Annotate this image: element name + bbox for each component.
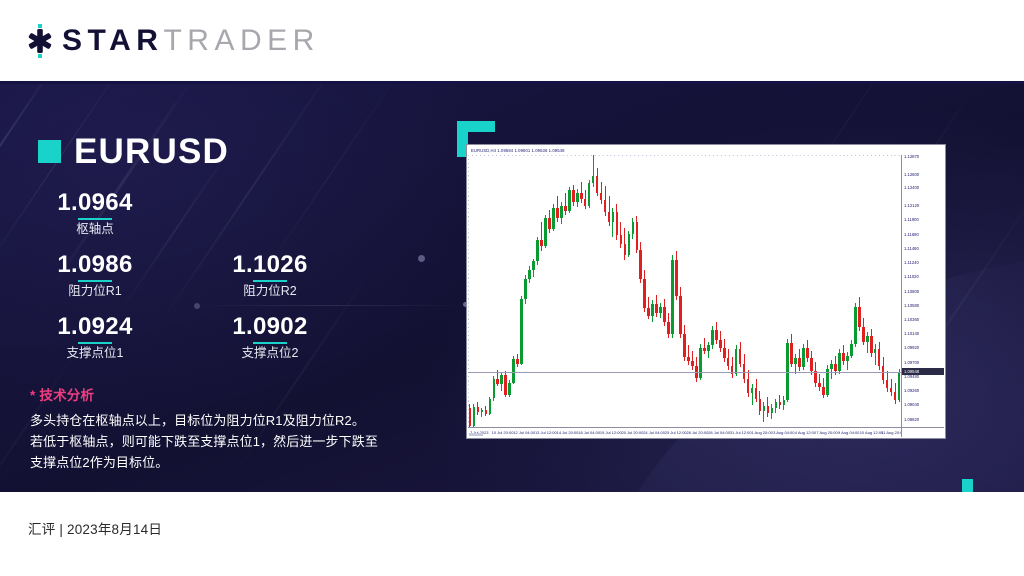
price-axis-tick: 1.09260 [904,388,919,393]
level-s1: 1.0924 支撑点位1 [0,313,190,361]
brand-wordmark: STAR TRADER [62,26,320,56]
candle-body [496,379,499,384]
pivot-row: 1.0964 枢轴点 [0,189,430,237]
time-axis-tick: 28 Jul 04:00 [708,430,730,435]
main-dark-panel: EURUSD 1.0964 枢轴点 1.0986 阻力位R1 [0,84,1024,492]
candle-body [504,375,507,395]
candle-wick [847,352,848,370]
level-s1-value: 1.0924 [0,313,190,341]
time-axis-tick: 20 Jul 20:00 [622,430,644,435]
candle-body [612,212,615,222]
candle-body [580,193,583,199]
candle-body [790,343,793,364]
current-price-label: 1.09548 [902,368,944,375]
price-axis-tick: 1.10800 [904,289,919,294]
level-s2-value: 1.0902 [190,313,350,341]
time-axis-tick: 31 Jul 12:00 [730,430,752,435]
candle-body [477,407,480,412]
level-pivot-value: 1.0964 [0,189,190,217]
level-pivot: 1.0964 枢轴点 [0,189,190,237]
analysis-body: 多头持仓在枢轴点以上，目标位为阻力位R1及阻力位R2。 若低于枢轴点，则可能下跌… [30,410,405,473]
level-underline [78,218,112,220]
price-axis-tick: 1.08820 [904,417,919,422]
price-axis: 1.128701.126001.124001.121201.119001.116… [901,155,944,427]
support-row: 1.0924 支撑点位1 1.0902 支撑点位2 [0,313,430,361]
price-axis-tick: 1.09700 [904,360,919,365]
time-axis-tick: 14 Jul 20:00 [557,430,579,435]
brand-name-bold: STAR [62,26,163,56]
time-axis-tick: 10 Jul 20:00 [492,430,514,435]
candle-body [870,336,873,353]
candle-body [842,353,845,361]
candle-body [473,407,476,426]
analysis-line-2: 若低于枢轴点，则可能下跌至支撑点位1，然后进一步下跌至 [30,431,405,452]
candle-body [707,345,710,350]
price-axis-tick: 1.09920 [904,345,919,350]
candle-body [639,250,642,280]
candle-body [814,371,817,383]
analysis-title: * 技术分析 [30,384,405,404]
current-price-line [468,372,901,373]
candle-body [810,358,813,371]
candle-body [616,212,619,235]
candle-body [596,176,599,193]
candle-body [806,348,809,358]
candle-body [771,408,774,413]
candle-body [568,190,571,211]
time-axis-tick: 26 Jul 20:00 [687,430,709,435]
time-axis-tick: 11 Aug 20:00 [881,430,901,435]
instrument-heading: EURUSD [38,134,229,169]
candle-wick [565,193,566,215]
candle-body [699,348,702,378]
header-bar: STAR TRADER [0,0,1024,82]
candle-body [822,387,825,395]
time-axis-tick: 18 Jul 04:00 [578,430,600,435]
candle-body [556,208,559,218]
candle-body [667,322,670,334]
pivot-levels: 1.0964 枢轴点 1.0986 阻力位R1 1.1026 阻力位R2 [0,189,430,361]
candle-body [751,388,754,393]
level-r1-label: 阻力位R1 [0,285,190,299]
time-axis-tick: 3 Aug 04:00 [773,430,794,435]
level-s2: 1.0902 支撑点位2 [190,313,350,361]
level-underline [78,280,112,282]
candle-body [600,193,603,201]
price-axis-tick: 1.10140 [904,331,919,336]
level-r1-value: 1.0986 [0,251,190,279]
candle-wick [541,222,542,250]
candle-wick [875,344,876,365]
candle-body [592,176,595,184]
candle-body [584,199,587,205]
candle-body [890,388,893,392]
candle-body [572,190,575,202]
candle-body [862,327,865,341]
price-axis-tick: 1.09040 [904,402,919,407]
candle-body [854,307,857,345]
price-axis-tick: 1.11020 [904,274,919,279]
candle-body [632,222,635,234]
price-axis-tick: 1.10580 [904,303,919,308]
candle-body [763,406,766,411]
candle-body [647,308,650,316]
candle-body [588,183,591,205]
time-axis-tick: 4 Aug 12:00 [795,430,816,435]
candle-body [536,240,539,261]
candle-body [735,349,738,374]
candle-body [643,279,646,307]
brand-logo: STAR TRADER [25,24,320,58]
candle-body [671,260,674,334]
candle-body [636,222,639,249]
candle-body [655,304,658,313]
candle-body [485,410,488,414]
candle-body [481,410,484,412]
candle-wick [688,345,689,364]
candle-body [608,212,611,222]
level-underline [78,342,112,344]
time-axis-tick: 24 Jul 04:00 [643,430,665,435]
candle-body [524,279,527,299]
candle-body [719,340,722,348]
time-axis-tick: 1 Aug 20:00 [751,430,772,435]
price-axis-tick: 1.11460 [904,246,919,251]
candle-body [540,240,543,245]
page-title: EURUSD [74,134,229,169]
candle-body [620,235,623,244]
footer-caption: 汇评 | 2023年8月14日 [28,518,162,538]
candle-body [783,400,786,405]
candle-body [675,260,678,296]
candle-body [798,358,801,367]
candle-body [663,307,666,323]
brand-name-light: TRADER [163,26,319,56]
candle-body [759,399,762,412]
time-axis-tick: 9 Aug 04:00 [838,430,859,435]
price-axis-tick: 1.11240 [904,260,919,265]
candle-body [794,358,797,363]
level-r2-label: 阻力位R2 [190,285,350,299]
technical-analysis: * 技术分析 多头持仓在枢轴点以上，目标位为阻力位R1及阻力位R2。 若低于枢轴… [30,384,405,473]
analysis-line-3: 支撑点位2作为目标位。 [30,452,405,473]
level-r1: 1.0986 阻力位R1 [0,251,190,299]
candle-body [838,353,841,371]
price-axis-tick: 1.11680 [904,232,919,237]
price-axis-tick: 1.11900 [904,217,919,222]
chart-scroll-handle[interactable] [469,433,483,436]
candle-body [727,358,730,366]
candle-body [882,366,885,380]
candlestick-series [468,155,901,427]
info-column: EURUSD 1.0964 枢轴点 1.0986 阻力位R1 [0,84,430,492]
corner-bracket-bottom-right-icon [962,479,973,492]
price-axis-tick: 1.12870 [904,154,919,159]
candle-body [767,406,770,412]
candle-body [493,379,496,398]
poster-root: STAR TRADER EURUSD [0,0,1024,576]
chart-container: EURUSD,H4 1.09584 1.09601 1.09536 1.0954… [466,144,946,459]
chart-title: EURUSD,H4 1.09584 1.09601 1.09536 1.0954… [468,146,944,155]
candle-body [628,234,631,255]
candle-body [775,402,778,407]
chart-plot-area[interactable] [468,155,901,427]
asterisk-star-icon [25,24,55,58]
square-bullet-icon [38,140,61,163]
candle-body [715,330,718,340]
time-axis-tick: 13 Jul 12:00 [535,430,557,435]
price-axis-tick: 1.12120 [904,203,919,208]
candle-body [604,200,607,212]
candle-body [739,349,742,363]
candle-body [516,359,519,364]
candle-body [548,218,551,228]
candle-body [528,270,531,278]
analysis-line-1: 多头持仓在枢轴点以上，目标位为阻力位R1及阻力位R2。 [30,410,405,431]
level-underline [253,280,287,282]
time-axis: 7 Jul 202310 Jul 20:0012 Jul 04:0013 Jul… [468,427,901,437]
axis-corner [901,427,944,437]
candle-body [850,344,853,356]
candle-body [691,361,694,366]
time-axis-tick: 19 Jul 12:00 [600,430,622,435]
candle-body [564,206,567,211]
price-axis-tick: 1.12400 [904,185,919,190]
candle-wick [704,338,705,355]
price-axis-tick: 1.12600 [904,172,919,177]
candle-body [576,193,579,202]
time-axis-tick: 7 Aug 20:00 [816,430,837,435]
candle-body [687,357,690,361]
candle-body [886,380,889,388]
level-r2-value: 1.1026 [190,251,350,279]
candle-body [818,383,821,387]
candle-body [500,375,503,384]
candle-body [755,388,758,398]
candle-body [898,372,901,400]
candle-body [683,334,686,357]
candle-body [552,208,555,229]
candle-body [894,392,897,400]
candle-body [544,218,547,245]
price-chart[interactable]: EURUSD,H4 1.09584 1.09601 1.09536 1.0954… [466,144,946,439]
footer-bar: 汇评 | 2023年8月14日 [0,492,1024,576]
candle-body [866,336,869,341]
candle-body [747,379,750,393]
candle-body [858,307,861,328]
candle-body [779,402,782,405]
candle-body [508,383,511,395]
candle-body [846,356,849,361]
candle-body [802,348,805,367]
candle-body [520,299,523,364]
candle-body [834,364,837,372]
time-axis-tick: 12 Jul 04:00 [513,430,535,435]
candle-body [651,304,654,316]
candle-body [560,206,563,219]
candle-body [469,408,472,426]
level-r2: 1.1026 阻力位R2 [190,251,350,299]
candle-body [624,244,627,254]
candle-body [659,307,662,313]
candle-body [532,261,535,270]
candle-body [711,330,714,346]
level-pivot-label: 枢轴点 [0,223,190,237]
candle-body [703,348,706,351]
level-s2-label: 支撑点位2 [190,347,350,361]
candle-body [878,349,881,366]
candle-body [830,364,833,369]
time-axis-tick: 10 Aug 12:00 [860,430,884,435]
level-underline [253,342,287,344]
candle-body [679,296,682,334]
time-axis-tick: 25 Jul 12:00 [665,430,687,435]
level-s1-label: 支撑点位1 [0,347,190,361]
resistance-row: 1.0986 阻力位R1 1.1026 阻力位R2 [0,251,430,299]
price-axis-tick: 1.10360 [904,317,919,322]
candle-body [489,399,492,415]
candle-body [874,349,877,353]
candle-body [723,348,726,358]
